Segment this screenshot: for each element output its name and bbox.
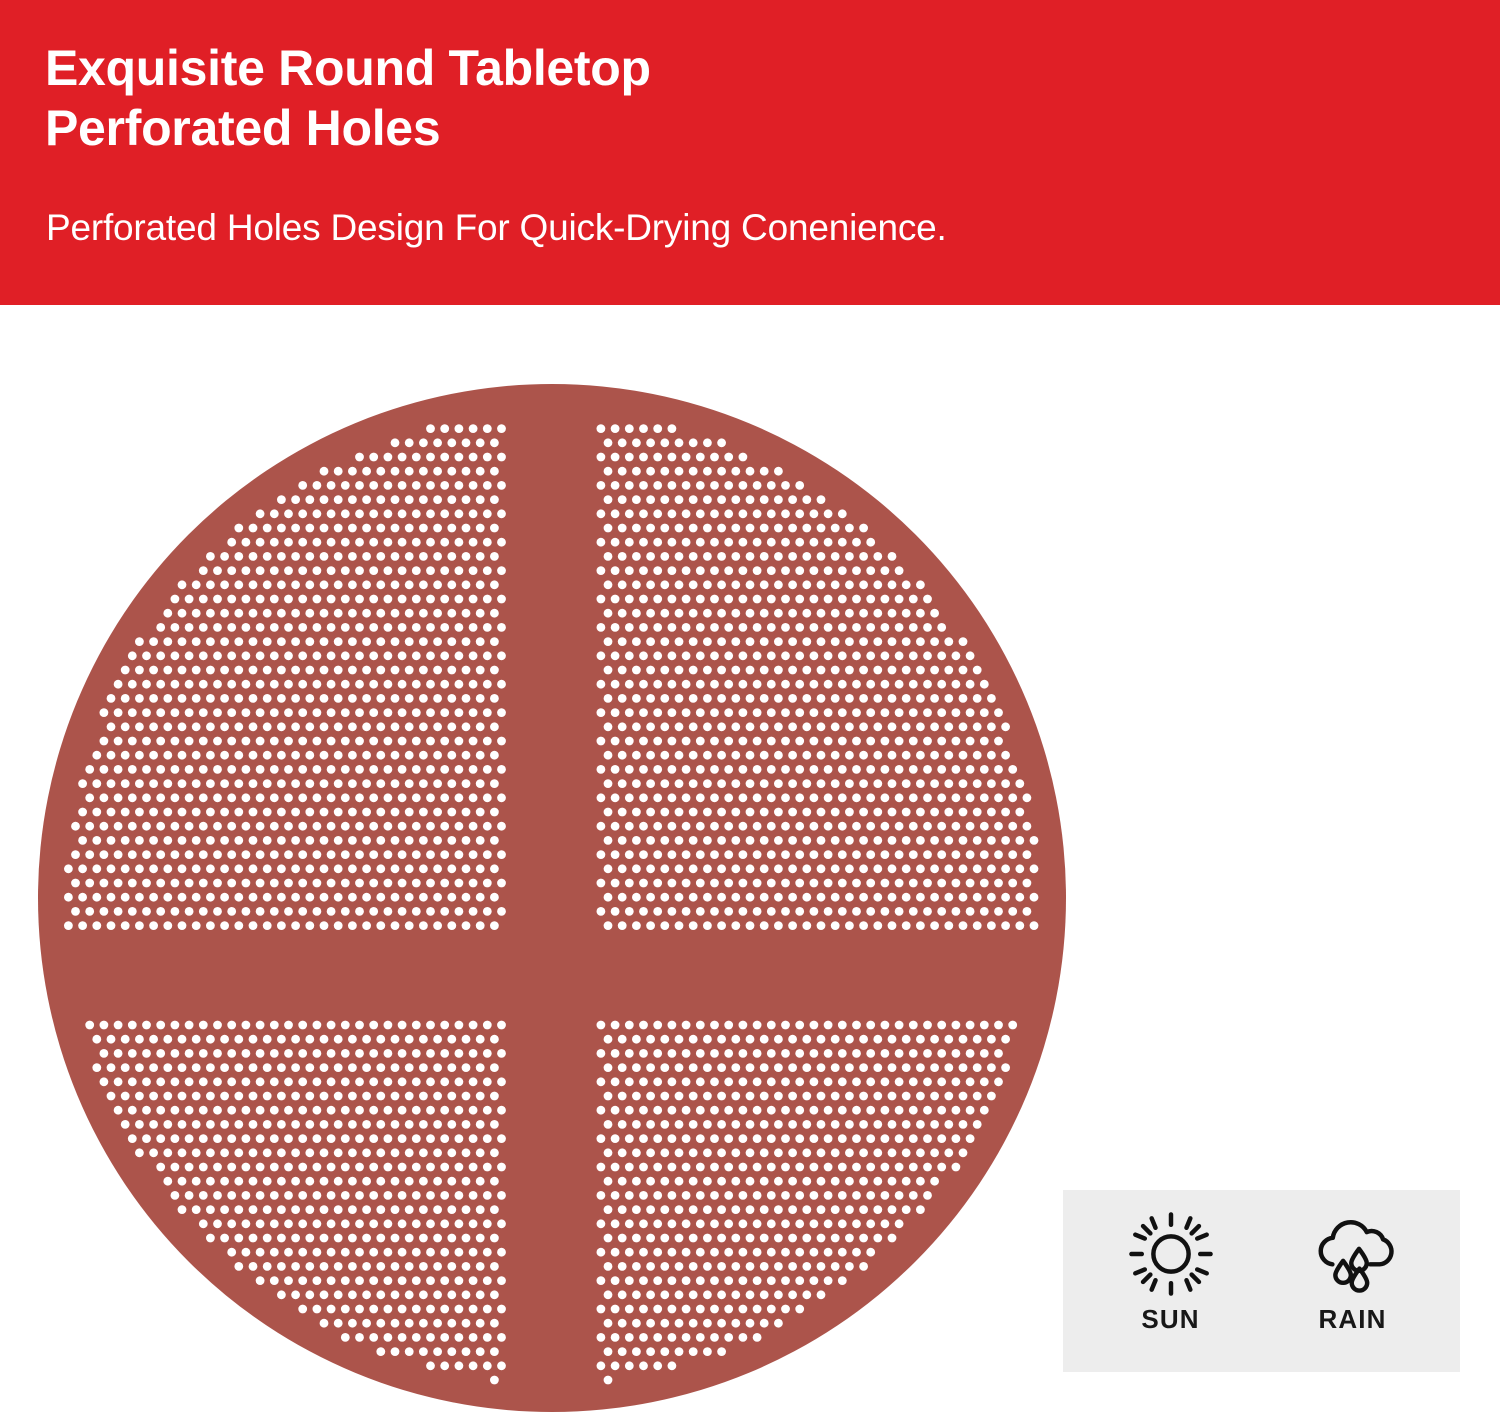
feature-label-sun: SUN	[1141, 1306, 1199, 1332]
perforated-tabletop-disc	[36, 382, 1068, 1414]
sun-icon	[1128, 1211, 1214, 1297]
page-subtitle: Perforated Holes Design For Quick-Drying…	[46, 205, 1396, 251]
feature-label-rain: RAIN	[1319, 1306, 1387, 1332]
product-feature-image: Exquisite Round Tabletop Perforated Hole…	[0, 0, 1500, 1428]
rain-cloud-icon	[1310, 1211, 1396, 1297]
weather-resistance-badge: SUN RAIN	[1063, 1190, 1460, 1372]
feature-item-rain: RAIN	[1295, 1211, 1411, 1332]
header-banner: Exquisite Round Tabletop Perforated Hole…	[0, 0, 1500, 305]
feature-item-sun: SUN	[1113, 1211, 1229, 1332]
page-title: Exquisite Round Tabletop Perforated Hole…	[45, 38, 1245, 158]
